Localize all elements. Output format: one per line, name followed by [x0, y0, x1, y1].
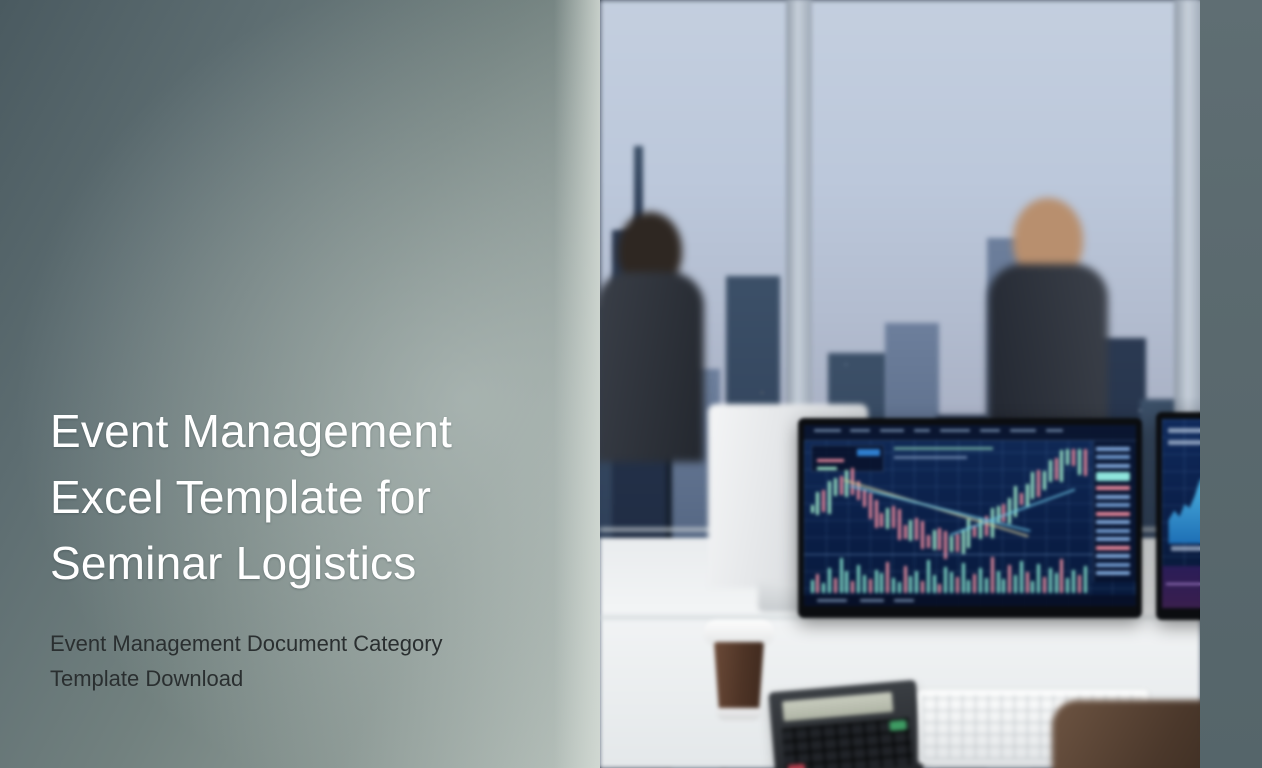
candlestick [880, 513, 883, 526]
candlestick [840, 476, 843, 495]
cup-body [714, 642, 764, 712]
volume-bar [1014, 575, 1017, 594]
title-text-block: Event Management Excel Template for Semi… [50, 398, 570, 696]
candlestick [967, 519, 970, 548]
volume-bar [904, 566, 907, 593]
right-edge-panel [1200, 0, 1262, 768]
candlestick [869, 493, 872, 519]
candlestick [962, 529, 965, 554]
volume-separator [804, 554, 1093, 555]
volume-bar [944, 567, 947, 593]
candlestick [875, 500, 878, 528]
volume-bar [933, 575, 936, 594]
volume-bar [863, 575, 866, 593]
candlestick [1026, 484, 1029, 507]
volume-bar [950, 572, 953, 593]
secondary-lower-panel [1162, 566, 1200, 608]
candlestick [892, 506, 895, 528]
page-title: Event Management Excel Template for Semi… [50, 398, 570, 596]
candlestick [927, 535, 930, 548]
screen-header-bar [1168, 428, 1200, 433]
volume-bar [834, 578, 837, 594]
calculator-key-green [890, 719, 907, 730]
status-tick [817, 599, 847, 602]
calculator [768, 680, 923, 768]
volume-bar [921, 581, 924, 594]
toolbar-tick [880, 429, 903, 432]
candlestick [822, 490, 825, 512]
candlestick [938, 528, 941, 550]
volume-bar [985, 578, 988, 594]
order-row [1096, 464, 1130, 468]
candlestick [863, 489, 866, 507]
trading-screen [804, 425, 1136, 606]
order-row [1096, 447, 1130, 451]
title-panel: Event Management Excel Template for Semi… [0, 0, 600, 768]
candlestick [834, 478, 837, 495]
volume-bar [991, 557, 994, 593]
candlestick [950, 536, 953, 552]
volume-bar [1066, 578, 1069, 593]
coffee-cup [710, 620, 768, 720]
window-frame-right [1174, 0, 1200, 476]
candlestick [997, 506, 1000, 522]
volume-bar [1060, 559, 1063, 593]
candlestick [898, 509, 901, 539]
volume-bar [811, 580, 814, 594]
subtitle-group: Event Management Document Category Templ… [50, 626, 570, 696]
volume-bar [857, 565, 860, 594]
volume-bar [967, 580, 970, 594]
calculator-display [782, 692, 893, 722]
candlestick [909, 520, 912, 540]
volume-histogram [811, 557, 1090, 593]
hero-photograph [600, 0, 1200, 768]
candlestick [956, 534, 959, 552]
status-tick [860, 599, 883, 602]
volume-bar [1084, 566, 1087, 593]
candlestick [1037, 470, 1040, 496]
candlestick [828, 481, 831, 514]
order-row [1096, 455, 1130, 459]
candlestick [1078, 449, 1081, 475]
toolbar-tick [1010, 429, 1037, 432]
candlestick [915, 518, 918, 540]
volume-bar [1072, 570, 1075, 593]
order-row-highlight [1096, 472, 1130, 481]
candlestick [1043, 471, 1046, 490]
toolbar-tick [814, 429, 841, 432]
screen-header-bar [1168, 440, 1200, 445]
trading-monitor-secondary [1156, 412, 1200, 620]
candlestick [1060, 450, 1063, 482]
toolbar-tick [850, 429, 870, 432]
volume-bar [915, 571, 918, 594]
order-row [1096, 512, 1130, 516]
person-torso [600, 272, 704, 462]
leather-chair [1052, 700, 1200, 768]
volume-bar [979, 568, 982, 594]
volume-bar [1008, 565, 1011, 593]
volume-bar [875, 570, 878, 593]
businessman-left [600, 212, 704, 462]
volume-bar [851, 581, 854, 593]
candlestick [1031, 472, 1034, 498]
candlestick [1020, 493, 1023, 505]
candlestick [1084, 449, 1087, 477]
candlestick [921, 521, 924, 549]
volume-bar [828, 568, 831, 593]
order-book-panel [1093, 441, 1136, 582]
presentation-slide: Event Management Excel Template for Semi… [0, 0, 1262, 768]
toolbar-tick [980, 429, 1000, 432]
candlestick [1066, 449, 1069, 465]
order-row [1096, 503, 1130, 507]
order-row [1096, 529, 1130, 533]
volume-bar [1043, 577, 1046, 594]
volume-bar [1078, 575, 1081, 593]
volume-bar [1026, 572, 1029, 593]
volume-bar [898, 582, 901, 593]
candlestick [811, 505, 814, 513]
volume-bar [962, 563, 965, 593]
volume-bar [997, 571, 1000, 594]
candlestick [816, 492, 819, 515]
candlestick [1055, 458, 1058, 480]
candlestick [1014, 486, 1017, 516]
candlestick [886, 508, 889, 528]
toolbar-tick [914, 429, 931, 432]
order-row [1096, 537, 1130, 541]
secondary-trend-line [1166, 583, 1200, 585]
candlestick [933, 530, 936, 550]
volume-bar [869, 579, 872, 593]
cup-base [717, 708, 761, 720]
order-row [1096, 520, 1130, 524]
subtitle-action: Template Download [50, 661, 570, 696]
terminal-statusbar [804, 595, 1136, 606]
status-tick [894, 599, 914, 602]
volume-bar [880, 573, 883, 593]
volume-bar [1002, 579, 1005, 593]
subtitle-category: Event Management Document Category [50, 631, 443, 656]
toolbar-tick [940, 429, 970, 432]
volume-bar [845, 571, 848, 593]
order-row [1096, 495, 1130, 499]
volume-bar [927, 560, 930, 593]
volume-bar [1037, 564, 1040, 593]
calculator-key-red [788, 763, 805, 768]
order-row [1096, 563, 1130, 567]
volume-bar [1055, 573, 1058, 593]
volume-bar [886, 562, 889, 594]
volume-bar [816, 574, 819, 594]
volume-bar [956, 577, 959, 594]
volume-bar [1049, 568, 1052, 593]
volume-bar [909, 576, 912, 593]
volume-bar [840, 558, 843, 593]
candlestick [1049, 460, 1052, 482]
toolbar-tick [1046, 429, 1063, 432]
order-row [1096, 486, 1130, 490]
candlestick [845, 470, 848, 497]
trading-monitor-primary [798, 418, 1142, 618]
order-row [1096, 546, 1130, 550]
candlestick [904, 525, 907, 538]
secondary-screen [1162, 419, 1200, 608]
volume-bar [1020, 561, 1023, 593]
volume-bar [822, 583, 825, 594]
volume-bar [938, 584, 941, 594]
volume-bar [1031, 581, 1034, 593]
volume-bar [973, 574, 976, 594]
order-row [1096, 554, 1130, 558]
terminal-toolbar [804, 425, 1136, 441]
volume-bar [892, 578, 895, 593]
screen-row [1171, 546, 1200, 551]
candlestick [1072, 449, 1075, 467]
order-row [1096, 571, 1130, 575]
